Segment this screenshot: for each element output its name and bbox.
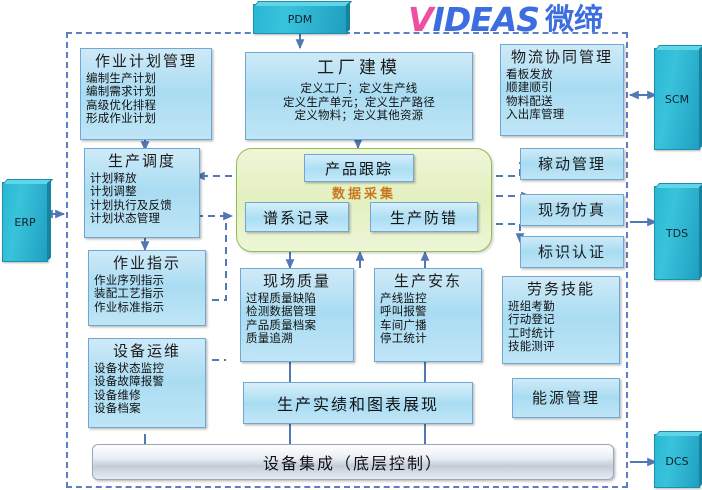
module-item: 设备档案 [94, 402, 205, 416]
module-items: 编制生产计划 编制需求计划 高级优化排程 形成作业计划 [81, 71, 211, 126]
module-title: 作业指示 [89, 251, 205, 273]
module-item: 计划执行及反馈 [90, 199, 199, 213]
module-labor-skill[interactable]: 劳务技能 班组考勤 行动登记 工时统计 技能测评 [502, 276, 620, 364]
external-system-dcs-label: DCS [665, 455, 688, 468]
external-system-scm[interactable]: SCM [654, 48, 700, 150]
external-system-dcs[interactable]: DCS [654, 434, 700, 488]
module-item: 编制生产计划 [86, 72, 211, 86]
module-item: 高级优化排程 [86, 99, 211, 113]
module-items: 产线监控 呼叫报警 车间广播 停工统计 [375, 291, 481, 346]
module-items: 计划释放 计划调整 计划执行及反馈 计划状态管理 [85, 171, 199, 226]
module-title: 标识认证 [538, 243, 606, 262]
module-item: 入出库管理 [506, 108, 623, 122]
module-item: 质量追溯 [246, 332, 353, 346]
module-item: 过程质量缺陷 [246, 292, 353, 306]
module-item: 物料配送 [506, 95, 623, 109]
module-production-results-charts[interactable]: 生产实绩和图表展现 [243, 382, 473, 424]
module-equipment-integration[interactable]: 设备集成（底层控制） [92, 444, 614, 480]
module-title: 现场质量 [241, 269, 353, 291]
module-item: 检测数据管理 [246, 305, 353, 319]
module-item: 车间广播 [380, 319, 481, 333]
module-item: 停工统计 [380, 332, 481, 346]
module-product-tracking[interactable]: 产品跟踪 [304, 154, 414, 182]
logo-chinese-name: 微缔 [545, 5, 603, 34]
module-item: 工时统计 [508, 327, 619, 341]
module-title: 物流协同管理 [501, 45, 623, 67]
module-item: 设备状态监控 [94, 362, 205, 376]
module-factory-modeling[interactable]: 工厂建模 定义工厂；定义生产线 定义生产单元；定义生产路径 定义物料；定义其他资… [245, 52, 473, 140]
external-system-scm-label: SCM [665, 93, 689, 106]
module-shopfloor-simulation[interactable]: 现场仿真 [520, 194, 624, 226]
logo-v-mark: V [408, 3, 433, 36]
module-title: 稼动管理 [538, 155, 606, 174]
module-items: 设备状态监控 设备故障报警 设备维修 设备档案 [89, 361, 205, 416]
logo-wordmark: IDEAS [433, 3, 540, 36]
module-title: 设备运维 [89, 339, 205, 361]
diagram-canvas: V IDEAS 微缔 [0, 0, 702, 490]
module-item: 编制需求计划 [86, 85, 211, 99]
module-item: 定义物料；定义其他资源 [246, 109, 472, 123]
external-system-tds[interactable]: TDS [654, 186, 700, 280]
module-item: 作业序列指示 [94, 274, 205, 288]
module-item: 技能测评 [508, 340, 619, 354]
external-system-erp[interactable]: ERP [2, 182, 48, 262]
module-item: 行动登记 [508, 313, 619, 327]
module-item: 形成作业计划 [86, 112, 211, 126]
module-title: 谱系记录 [263, 207, 331, 228]
module-shopfloor-quality[interactable]: 现场质量 过程质量缺陷 检测数据管理 产品质量档案 质量追溯 [240, 268, 354, 362]
module-item: 设备维修 [94, 389, 205, 403]
videas-logo: V IDEAS 微缔 [408, 2, 603, 36]
module-item: 定义生产单元；定义生产路径 [246, 96, 472, 110]
module-items: 班组考勤 行动登记 工时统计 技能测评 [503, 299, 619, 354]
module-production-andon[interactable]: 生产安东 产线监控 呼叫报警 车间广播 停工统计 [374, 268, 482, 362]
module-item: 看板发放 [506, 68, 623, 82]
external-system-tds-label: TDS [666, 227, 688, 240]
module-title: 劳务技能 [503, 277, 619, 299]
module-item: 产品质量档案 [246, 319, 353, 333]
module-genealogy-record[interactable]: 谱系记录 [245, 202, 349, 232]
module-logistics-collaboration[interactable]: 物流协同管理 看板发放 顺建顺引 物料配送 入出库管理 [500, 44, 624, 136]
module-title: 产品跟踪 [325, 158, 393, 179]
module-production-error-proofing[interactable]: 生产防错 [370, 202, 478, 232]
external-system-pdm-label: PDM [288, 13, 313, 26]
module-title: 工厂建模 [246, 53, 472, 79]
module-title: 作业计划管理 [81, 49, 211, 71]
module-items: 看板发放 顺建顺引 物料配送 入出库管理 [501, 67, 623, 122]
module-item: 装配工艺指示 [94, 287, 205, 301]
module-title: 生产安东 [375, 269, 481, 291]
module-title: 现场仿真 [538, 201, 606, 220]
module-title: 生产防错 [390, 207, 458, 228]
module-item: 计划状态管理 [90, 212, 199, 226]
module-production-plan[interactable]: 作业计划管理 编制生产计划 编制需求计划 高级优化排程 形成作业计划 [80, 48, 212, 140]
module-title: 设备集成（底层控制） [263, 450, 443, 474]
module-energy-management[interactable]: 能源管理 [512, 378, 620, 418]
module-items: 定义工厂；定义生产线 定义生产单元；定义生产路径 定义物料；定义其他资源 [246, 79, 472, 123]
module-item: 作业标准指示 [94, 301, 205, 315]
module-equipment-maintenance[interactable]: 设备运维 设备状态监控 设备故障报警 设备维修 设备档案 [88, 338, 206, 428]
external-system-pdm[interactable]: PDM [253, 4, 347, 34]
module-item: 定义工厂；定义生产线 [246, 82, 472, 96]
module-item: 呼叫报警 [380, 305, 481, 319]
module-item: 班组考勤 [508, 300, 619, 314]
module-item: 产线监控 [380, 292, 481, 306]
module-title: 能源管理 [532, 389, 600, 408]
module-work-instruction[interactable]: 作业指示 作业序列指示 装配工艺指示 作业标准指示 [88, 250, 206, 326]
data-collection-label: 数据采集 [237, 183, 491, 202]
module-production-scheduling[interactable]: 生产调度 计划释放 计划调整 计划执行及反馈 计划状态管理 [84, 148, 200, 238]
module-title: 生产调度 [85, 149, 199, 171]
module-item: 顺建顺引 [506, 81, 623, 95]
module-oee-management[interactable]: 稼动管理 [520, 148, 624, 180]
module-item: 设备故障报警 [94, 375, 205, 389]
external-system-erp-label: ERP [14, 216, 35, 229]
module-title: 生产实绩和图表展现 [277, 391, 439, 415]
module-identification-authentication[interactable]: 标识认证 [520, 236, 624, 268]
module-item: 计划调整 [90, 185, 199, 199]
module-item: 计划释放 [90, 172, 199, 186]
module-items: 过程质量缺陷 检测数据管理 产品质量档案 质量追溯 [241, 291, 353, 346]
module-items: 作业序列指示 装配工艺指示 作业标准指示 [89, 273, 205, 315]
